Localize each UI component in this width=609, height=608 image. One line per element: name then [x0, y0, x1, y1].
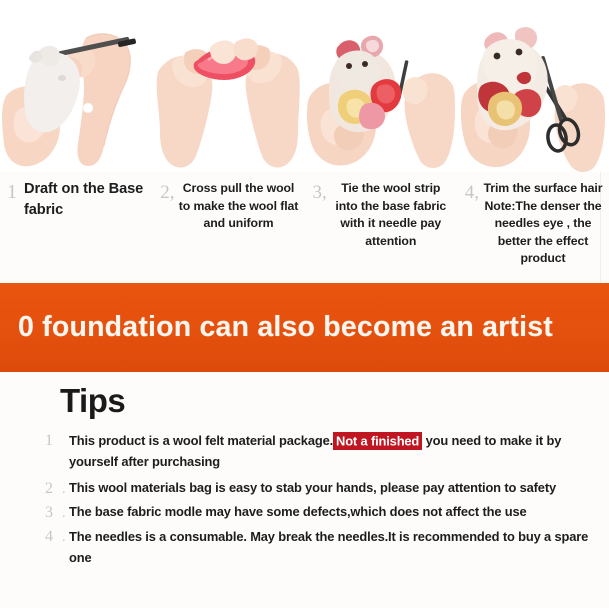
step-photo-2	[152, 0, 304, 172]
tip-dot-3: .	[62, 502, 69, 523]
product-instruction-page: 1 Draft on the Base fabric	[0, 0, 609, 608]
tip-number-2: 2	[45, 478, 62, 499]
list-item: 1 This product is a wool felt material p…	[0, 430, 609, 472]
step-panel-2: 2, Cross pull the wool to make the wool …	[152, 0, 304, 283]
tip-dot-4: .	[62, 526, 69, 547]
step-text-1: Draft on the Base fabric	[17, 172, 152, 221]
cross-pulling-wool-illustration	[152, 0, 304, 172]
step-caption-1: 1 Draft on the Base fabric	[0, 172, 152, 221]
tips-list: 1 This product is a wool felt material p…	[0, 430, 609, 571]
step-photo-3	[305, 0, 457, 172]
step-number-4: 4,	[457, 172, 479, 202]
tip-number-4: 4	[45, 526, 62, 547]
tip-text-1-before: This product is a wool felt material pac…	[69, 433, 333, 448]
step-number-1: 1	[0, 172, 17, 202]
tip-text-4: The needles is a consumable. May break t…	[69, 526, 601, 568]
tip-text-1: This product is a wool felt material pac…	[69, 430, 601, 472]
promo-banner: 0 foundation can also become an artist	[0, 283, 609, 372]
list-item: 4 . The needles is a consumable. May bre…	[0, 526, 609, 568]
tip-number-1: 1	[45, 430, 62, 451]
step-panel-3: 3, Tie the wool strip into the base fabr…	[305, 0, 457, 283]
steps-strip: 1 Draft on the Base fabric	[0, 0, 609, 283]
tip-dot-2: .	[62, 478, 69, 499]
list-item: 2 . This wool materials bag is easy to s…	[0, 478, 609, 499]
trimming-felt-figure-illustration	[457, 0, 609, 172]
step-text-2: Cross pull the wool to make the wool fla…	[175, 172, 305, 233]
step-caption-4: 4, Trim the surface hair Note:The denser…	[457, 172, 609, 268]
step-caption-2: 2, Cross pull the wool to make the wool …	[152, 172, 304, 233]
step-text-4: Trim the surface hair Note:The denser th…	[479, 172, 609, 268]
tip-number-3: 3	[45, 502, 62, 523]
tips-section: Tips 1 This product is a wool felt mater…	[0, 372, 609, 608]
step-number-2: 2,	[152, 172, 174, 202]
promo-banner-text: 0 foundation can also become an artist	[0, 311, 553, 344]
tips-heading: Tips	[60, 382, 125, 420]
tip-text-2: This wool materials bag is easy to stab …	[69, 478, 601, 499]
needling-felt-figure-illustration	[305, 0, 457, 172]
list-item: 3 . The base fabric modle may have some …	[0, 502, 609, 523]
step-panel-1: 1 Draft on the Base fabric	[0, 0, 152, 283]
step-photo-4	[457, 0, 609, 172]
step-photo-1	[0, 0, 152, 172]
drafting-on-base-fabric-illustration	[0, 0, 152, 172]
step-caption-3: 3, Tie the wool strip into the base fabr…	[305, 172, 457, 250]
step-text-3: Tie the wool strip into the base fabric …	[327, 172, 457, 250]
tip-text-3: The base fabric modle may have some defe…	[69, 502, 601, 523]
tip-highlight-not-a-finished: Not a finished	[333, 432, 422, 451]
step-panel-4: 4, Trim the surface hair Note:The denser…	[457, 0, 609, 283]
step-number-3: 3,	[305, 172, 327, 202]
